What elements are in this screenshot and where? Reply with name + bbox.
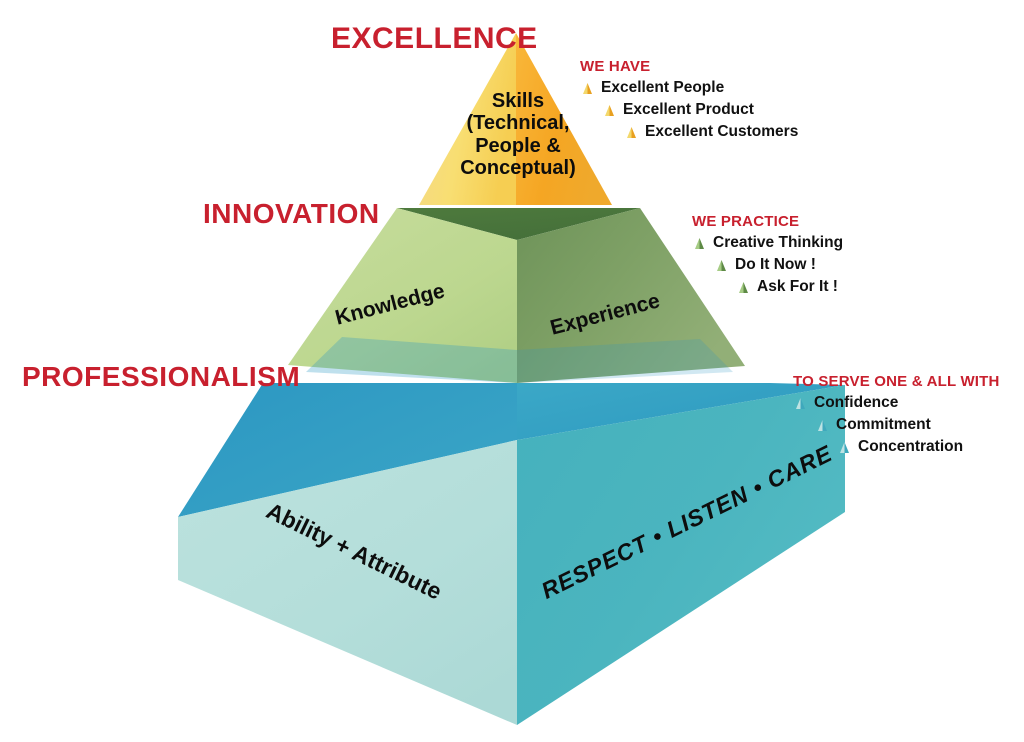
callout-we-have-item: Excellent Customers	[624, 123, 798, 141]
tier-heading-excellence: EXCELLENCE	[331, 22, 538, 56]
callout-to-serve-item-label: Concentration	[858, 438, 963, 456]
callout-to-serve-item: Confidence	[793, 394, 1000, 412]
callout-we-have-item-label: Excellent Product	[623, 101, 754, 119]
callout-we-practice-item: Creative Thinking	[692, 234, 843, 252]
apex-face-label-skills: Skills (Technical, People & Conceptual)	[433, 90, 603, 180]
tier-heading-professionalism: PROFESSIONALISM	[22, 361, 300, 393]
callout-we-practice-title: WE PRACTICE	[692, 213, 843, 230]
triangle-bullet-icon	[714, 258, 729, 273]
callout-we-have-item-label: Excellent People	[601, 79, 724, 97]
callout-we-practice-item: Do It Now !	[714, 256, 843, 274]
triangle-bullet-icon	[624, 125, 639, 140]
callout-we-have-item-label: Excellent Customers	[645, 123, 798, 141]
triangle-bullet-icon	[837, 440, 852, 455]
triangle-bullet-icon	[736, 280, 751, 295]
callout-we-practice-item: Ask For It !	[736, 278, 843, 296]
callout-we-have-title: WE HAVE	[580, 58, 798, 75]
triangle-bullet-icon	[815, 418, 830, 433]
callout-we-have: WE HAVE Excellent People Excellent Produ…	[580, 58, 798, 145]
callout-to-serve: TO SERVE ONE & ALL WITH Confidence Commi…	[793, 373, 1000, 460]
callout-to-serve-item: Commitment	[815, 416, 1000, 434]
callout-we-practice-item-label: Creative Thinking	[713, 234, 843, 252]
callout-we-practice-item-label: Ask For It !	[757, 278, 838, 296]
callout-to-serve-item-label: Confidence	[814, 394, 898, 412]
callout-we-practice-item-label: Do It Now !	[735, 256, 816, 274]
callout-we-have-item: Excellent People	[580, 79, 798, 97]
callout-we-practice: WE PRACTICE Creative Thinking Do It Now …	[692, 213, 843, 300]
pyramid-diagram: EXCELLENCE INNOVATION PROFESSIONALISM Sk…	[0, 0, 1024, 742]
triangle-bullet-icon	[580, 81, 595, 96]
triangle-bullet-icon	[692, 236, 707, 251]
triangle-bullet-icon	[602, 103, 617, 118]
callout-to-serve-item-label: Commitment	[836, 416, 931, 434]
callout-to-serve-title: TO SERVE ONE & ALL WITH	[793, 373, 1000, 390]
callout-we-have-item: Excellent Product	[602, 101, 798, 119]
callout-to-serve-item: Concentration	[837, 438, 1000, 456]
tier-heading-innovation: INNOVATION	[203, 198, 380, 230]
triangle-bullet-icon	[793, 396, 808, 411]
